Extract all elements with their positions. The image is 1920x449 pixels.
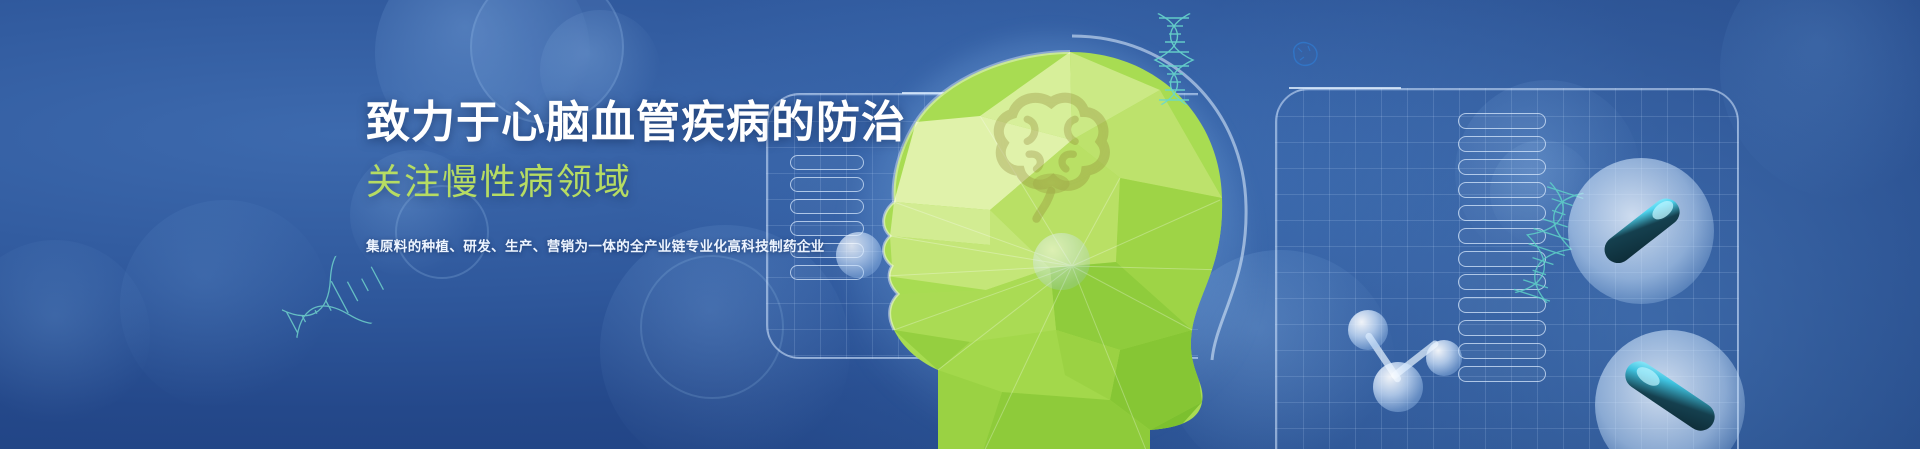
bokeh-circle: [600, 225, 850, 449]
bokeh-circle: [120, 200, 330, 410]
microbe-outline-icon: [1290, 40, 1320, 68]
hud-bar: [1458, 113, 1546, 129]
hud-bar: [1458, 159, 1546, 175]
hud-bar: [790, 177, 864, 192]
dna-helix-icon: [1139, 8, 1209, 108]
hud-bar: [1458, 136, 1546, 152]
hud-bar: [1458, 274, 1546, 290]
glow-sphere: [836, 232, 882, 278]
dna-helix-icon: [1487, 169, 1611, 316]
brain-icon: [999, 98, 1105, 219]
hud-bar: [1458, 228, 1546, 244]
cell-graphic: [1595, 330, 1745, 449]
headline-part-2: 心脑血管疾病: [501, 98, 771, 147]
bacteria-rod-icon: [1595, 330, 1745, 449]
hud-panel-left: [766, 93, 1198, 359]
molecule-bond: [1390, 339, 1440, 380]
bacteria-rod-icon: [1568, 158, 1714, 304]
hero-banner: 致力于心脑血管疾病的防治 关注慢性病领域 集原料的种植、研发、生产、营销为一体的…: [0, 0, 1920, 449]
hud-bar: [1458, 343, 1546, 359]
molecule-node: [1373, 362, 1423, 412]
bokeh-circle: [1455, 80, 1640, 265]
cell-graphic: [1568, 158, 1714, 304]
hud-bars-right: [1458, 113, 1546, 382]
bokeh-circle: [350, 150, 480, 280]
hud-bar: [790, 199, 864, 214]
headline-part-1: 致力于: [366, 98, 501, 147]
bokeh-circle: [1720, 0, 1920, 200]
page-title: 致力于心脑血管疾病的防治: [366, 100, 906, 147]
bokeh-circle: [0, 240, 150, 430]
hud-bar: [790, 155, 864, 170]
hud-top-line-left: [902, 92, 1085, 94]
hud-bar: [790, 221, 864, 236]
bokeh-circle: [395, 185, 489, 279]
glow-sphere: [1033, 233, 1090, 290]
hud-bar: [1458, 297, 1546, 313]
molecule-bond: [1364, 332, 1402, 384]
head-glow: [850, 35, 1250, 449]
hud-bar: [1458, 182, 1546, 198]
hud-bar: [790, 265, 864, 280]
bokeh-circle: [1490, 140, 1595, 245]
page-tagline: 集原料的种植、研发、生产、营销为一体的全产业链专业化高科技制药企业: [366, 235, 906, 255]
hud-bar: [1458, 320, 1546, 336]
page-subtitle: 关注慢性病领域: [366, 153, 906, 205]
hud-bar: [1458, 366, 1546, 382]
hud-bars-left: [790, 155, 864, 280]
hud-panel-right: [1275, 88, 1739, 449]
bokeh-circle: [1010, 160, 1170, 320]
molecule-node: [1348, 310, 1388, 350]
bokeh-circle: [640, 255, 784, 399]
headline-part-3: 的防治: [771, 98, 906, 147]
molecule-node: [1426, 340, 1462, 376]
dna-helix-icon: [266, 235, 410, 362]
copy-block: 致力于心脑血管疾病的防治 关注慢性病领域 集原料的种植、研发、生产、营销为一体的…: [366, 100, 906, 255]
bokeh-circle: [1165, 250, 1395, 449]
hud-bar: [790, 243, 864, 258]
hud-bar: [1458, 251, 1546, 267]
bokeh-circle: [540, 10, 660, 130]
bokeh-circle: [375, 0, 590, 160]
hud-top-line-right: [1289, 87, 1401, 89]
bokeh-circle: [470, 0, 624, 124]
hud-bar: [1458, 205, 1546, 221]
